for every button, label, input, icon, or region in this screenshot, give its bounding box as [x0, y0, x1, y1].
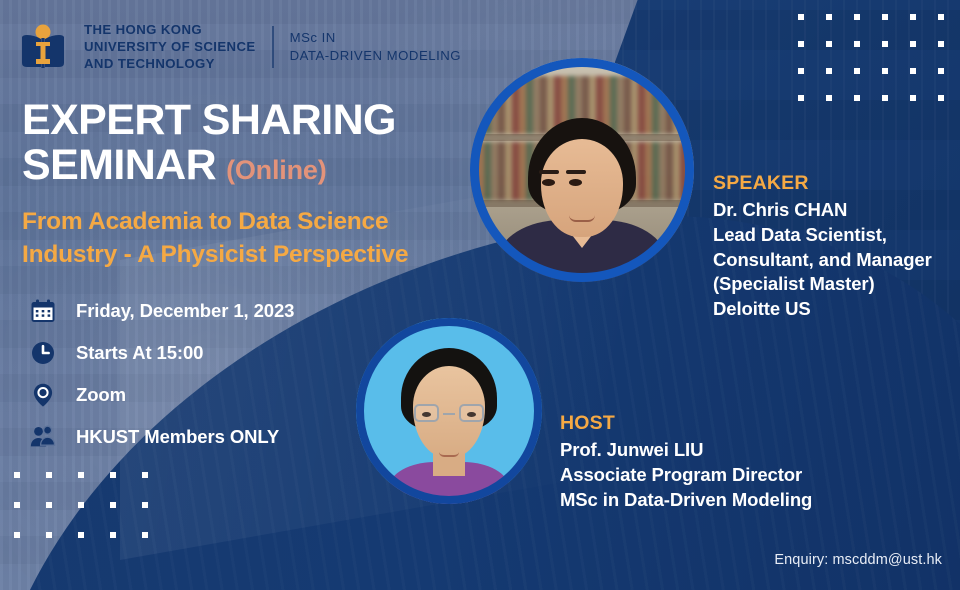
event-mode-badge: (Online) — [226, 155, 326, 185]
detail-row-date: Friday, December 1, 2023 — [30, 298, 294, 324]
speaker-info-panel: SPEAKER Dr. Chris CHAN Lead Data Scienti… — [713, 172, 953, 322]
dot — [46, 472, 52, 478]
clock-icon — [30, 340, 56, 366]
location-pin-icon — [30, 382, 56, 408]
host-info-panel: HOST Prof. Junwei LIU Associate Program … — [560, 412, 950, 512]
header-divider — [272, 26, 274, 68]
speaker-title-line-2: Consultant, and Manager — [713, 248, 953, 273]
dot — [938, 95, 944, 101]
poster-header: THE HONG KONG UNIVERSITY OF SCIENCE AND … — [18, 21, 461, 72]
dot — [910, 41, 916, 47]
decorative-dot-grid-top-right — [798, 14, 944, 101]
detail-label-audience: HKUST Members ONLY — [76, 426, 279, 448]
decorative-dot-grid-bottom-left — [14, 472, 148, 538]
dot — [938, 14, 944, 20]
dot — [882, 68, 888, 74]
dot — [798, 95, 804, 101]
detail-row-time: Starts At 15:00 — [30, 340, 294, 366]
speaker-title-line-1: Lead Data Scientist, — [713, 223, 953, 248]
dot — [882, 41, 888, 47]
dot — [826, 41, 832, 47]
event-title-line1: EXPERT SHARING — [22, 98, 492, 143]
detail-row-venue: Zoom — [30, 382, 294, 408]
dot — [854, 68, 860, 74]
dot — [798, 14, 804, 20]
dot — [110, 502, 116, 508]
dot — [142, 502, 148, 508]
dot — [46, 532, 52, 538]
dot — [910, 14, 916, 20]
dot — [826, 14, 832, 20]
dot — [798, 68, 804, 74]
dot — [78, 502, 84, 508]
detail-label-time: Starts At 15:00 — [76, 342, 203, 364]
event-details-list: Friday, December 1, 2023 Starts At 15:00… — [30, 298, 294, 450]
dot — [14, 502, 20, 508]
speaker-title-line-3: (Specialist Master) — [713, 272, 953, 297]
host-photo-ring — [356, 318, 542, 504]
event-title-line2: SEMINAR — [22, 141, 216, 189]
dot — [910, 68, 916, 74]
detail-label-venue: Zoom — [76, 384, 126, 406]
dot — [142, 532, 148, 538]
host-program: MSc in Data-Driven Modeling — [560, 488, 950, 513]
dot — [14, 472, 20, 478]
host-role: Associate Program Director — [560, 463, 950, 488]
speaker-name: Dr. Chris CHAN — [713, 198, 953, 223]
dot — [854, 14, 860, 20]
detail-row-audience: HKUST Members ONLY — [30, 424, 294, 450]
dot — [110, 472, 116, 478]
dot — [110, 532, 116, 538]
dot — [882, 14, 888, 20]
dot — [142, 472, 148, 478]
dot — [46, 502, 52, 508]
dot — [798, 41, 804, 47]
dot — [14, 532, 20, 538]
detail-label-date: Friday, December 1, 2023 — [76, 300, 294, 322]
university-name: THE HONG KONG UNIVERSITY OF SCIENCE AND … — [84, 21, 256, 72]
speaker-heading: SPEAKER — [713, 172, 953, 195]
dot — [78, 472, 84, 478]
host-heading: HOST — [560, 412, 950, 435]
dot — [910, 95, 916, 101]
host-name: Prof. Junwei LIU — [560, 438, 950, 463]
calendar-icon — [30, 298, 56, 324]
enquiry-text: Enquiry: mscddm@ust.hk — [774, 552, 942, 568]
speaker-photo-ring — [470, 58, 694, 282]
title-block: EXPERT SHARING SEMINAR(Online) From Acad… — [22, 98, 492, 271]
event-poster: THE HONG KONG UNIVERSITY OF SCIENCE AND … — [0, 0, 960, 590]
dot — [854, 95, 860, 101]
people-icon — [30, 424, 56, 450]
dot — [78, 532, 84, 538]
dot — [938, 41, 944, 47]
dot — [938, 68, 944, 74]
hkust-logo-icon — [18, 23, 68, 71]
speaker-organization: Deloitte US — [713, 297, 953, 322]
dot — [854, 41, 860, 47]
program-name: MSc IN DATA-DRIVEN MODELING — [290, 29, 461, 64]
event-subtitle: From Academia to Data Science Industry -… — [22, 206, 492, 271]
dot — [826, 68, 832, 74]
dot — [882, 95, 888, 101]
event-title: EXPERT SHARING SEMINAR(Online) — [22, 98, 492, 188]
dot — [826, 95, 832, 101]
